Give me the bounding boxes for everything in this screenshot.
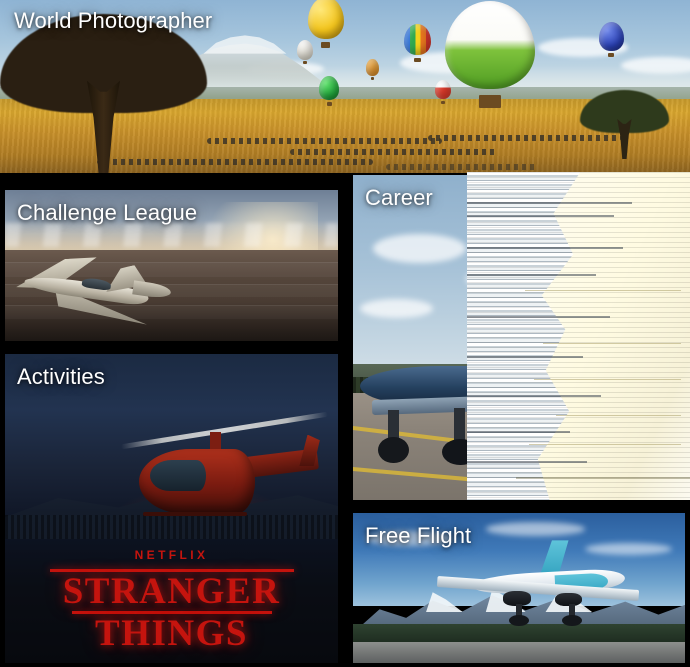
airliner <box>433 546 652 639</box>
stranger-things-promo: NETFLIX STRANGER THINGS <box>5 548 338 654</box>
tile-challenge-league[interactable]: Challenge League <box>5 190 338 341</box>
netflix-brand-label: NETFLIX <box>5 548 338 562</box>
balloon-white-small <box>297 40 314 64</box>
tile-title-free-flight: Free Flight <box>365 523 471 549</box>
balloon-white-green-large <box>445 1 535 108</box>
acacia-tree <box>0 14 207 173</box>
tile-activities[interactable]: Activities NETFLIX STRANGER THINGS <box>5 354 338 663</box>
fighter-jet <box>12 258 172 321</box>
balloon-orange-small <box>366 59 380 80</box>
helicopter <box>132 422 318 527</box>
tile-title-career: Career <box>365 185 433 211</box>
balloon-green <box>319 76 340 105</box>
balloon-red-white <box>435 80 452 104</box>
acacia-tree-far <box>580 90 670 159</box>
balloon-blue <box>599 22 624 57</box>
stranger-things-line-2: THINGS <box>50 616 294 652</box>
tile-free-flight[interactable]: Free Flight <box>353 513 685 663</box>
main-menu-screen: World Photographer Challenge League <box>0 0 690 667</box>
tile-world-photographer[interactable]: World Photographer <box>0 0 690 173</box>
tile-title-challenge-league: Challenge League <box>17 200 197 226</box>
tile-title-world-photographer: World Photographer <box>14 8 212 34</box>
stranger-things-line-1: STRANGER <box>50 574 294 610</box>
tile-title-activities: Activities <box>17 364 105 390</box>
balloon-rainbow <box>404 24 432 62</box>
render-glitch-artifact <box>467 172 690 500</box>
